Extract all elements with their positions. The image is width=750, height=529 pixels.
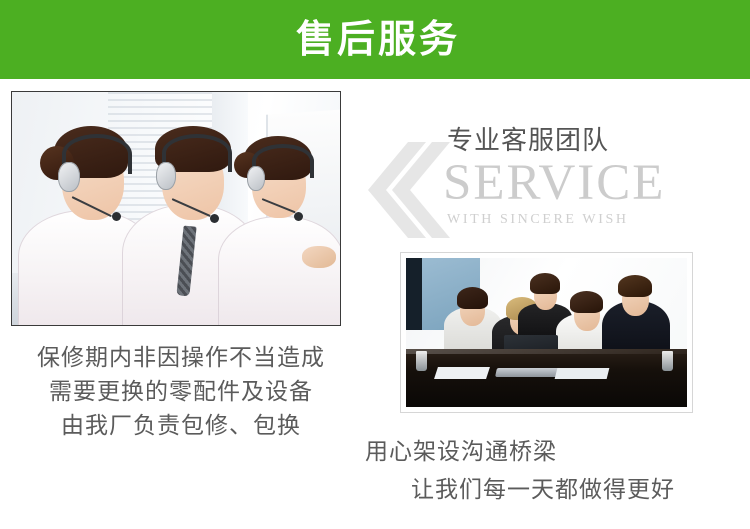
person-hair [457, 287, 488, 309]
headset-microphone [294, 212, 303, 221]
warranty-caption-line-3: 由我厂负责包修、包换 [11, 408, 351, 442]
double-chevron-left-icon [368, 142, 450, 238]
warranty-caption-line-1: 保修期内非因操作不当造成 [11, 340, 351, 374]
page-title: 售后服务 [290, 21, 460, 59]
communication-caption-line-2: 让我们每一天都做得更好 [365, 470, 745, 508]
business-meeting-photo [400, 252, 693, 413]
agent-hand [302, 246, 336, 268]
service-tagline: WITH SINCERE WISH [447, 213, 629, 227]
warranty-caption: 保修期内非因操作不当造成 需要更换的零配件及设备 由我厂负责包修、包换 [11, 340, 351, 442]
person-hair [570, 291, 603, 313]
photo-scene [406, 258, 687, 407]
service-wordmark: SERVICE [443, 158, 665, 209]
communication-caption-line-1: 用心架设沟通桥梁 [365, 432, 745, 470]
headset-microphone [112, 212, 121, 221]
warranty-caption-line-2: 需要更换的零配件及设备 [11, 374, 351, 408]
papers-right [555, 368, 610, 379]
photo-scene [12, 92, 340, 325]
headset-earcup [58, 162, 80, 192]
water-glass-left [416, 351, 427, 371]
headset-earcup [247, 166, 265, 191]
agent-figure-right [218, 118, 338, 326]
window-frame [406, 258, 422, 330]
service-heading: 专业客服团队 [447, 126, 609, 155]
agent-body [218, 216, 341, 326]
page-header-banner: 售后服务 [0, 0, 750, 79]
person-hair [618, 275, 652, 297]
call-center-team-photo [11, 91, 341, 326]
water-glass-right [662, 351, 673, 371]
papers-left [434, 367, 490, 379]
communication-caption: 用心架设沟通桥梁 让我们每一天都做得更好 [365, 432, 745, 508]
headset-earcup [156, 162, 176, 190]
